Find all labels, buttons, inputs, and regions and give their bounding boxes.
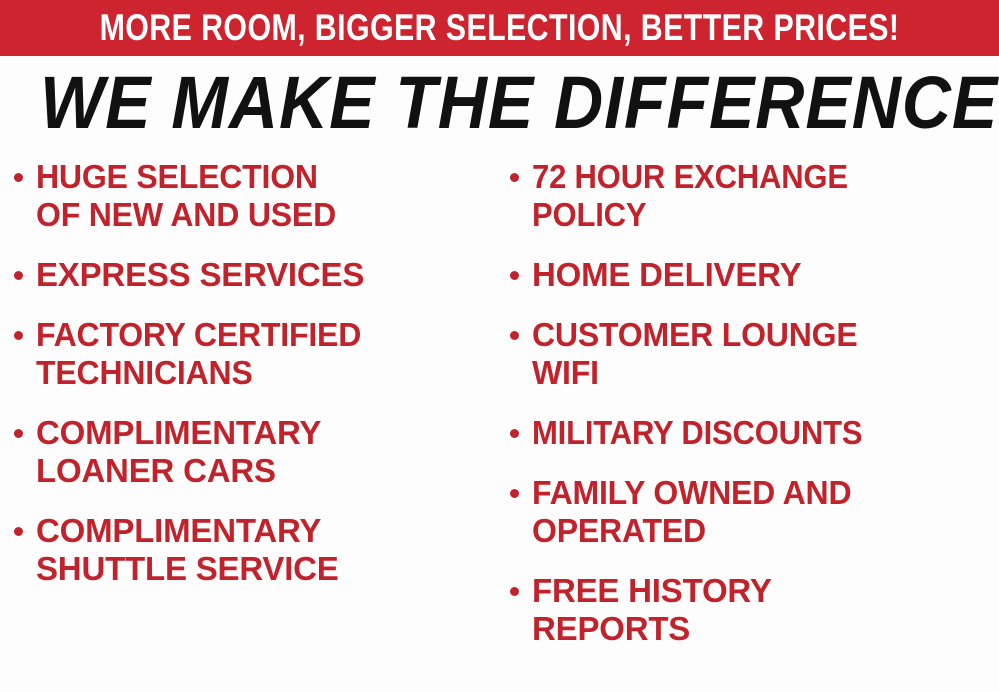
dealership-benefits-ad: MORE ROOM, BIGGER SELECTION, BETTER PRIC… <box>0 0 999 692</box>
bullet-dot-icon <box>14 331 23 340</box>
promo-banner-text: MORE ROOM, BIGGER SELECTION, BETTER PRIC… <box>90 0 909 56</box>
list-item: COMPLIMENTARY LOANER CARS <box>14 414 500 490</box>
list-item: CUSTOMER LOUNGE WIFI <box>510 316 999 392</box>
bullet-dot-icon <box>510 429 519 438</box>
bullet-dot-icon <box>14 429 23 438</box>
list-item-label: FREE HISTORY REPORTS <box>532 572 772 648</box>
list-item: FACTORY CERTIFIED TECHNICIANS <box>14 316 500 392</box>
list-item-label: MILITARY DISCOUNTS <box>532 414 862 452</box>
bullet-dot-icon <box>14 271 23 280</box>
bullet-dot-icon <box>510 173 519 182</box>
bullet-dot-icon <box>510 271 519 280</box>
list-item-label: HUGE SELECTION OF NEW AND USED <box>36 158 336 234</box>
list-item-label: FACTORY CERTIFIED TECHNICIANS <box>36 316 361 392</box>
list-item-label: 72 HOUR EXCHANGE POLICY <box>532 158 848 234</box>
list-item: FREE HISTORY REPORTS <box>510 572 999 648</box>
page-title: WE MAKE THE DIFFERENCE <box>40 64 959 142</box>
list-item: FAMILY OWNED AND OPERATED <box>510 474 999 550</box>
list-item-label: HOME DELIVERY <box>532 256 801 294</box>
benefits-column-left: HUGE SELECTION OF NEW AND USED EXPRESS S… <box>0 158 500 610</box>
promo-banner: MORE ROOM, BIGGER SELECTION, BETTER PRIC… <box>0 0 999 56</box>
bullet-dot-icon <box>510 587 519 596</box>
list-item-label: FAMILY OWNED AND OPERATED <box>532 474 851 550</box>
list-item: 72 HOUR EXCHANGE POLICY <box>510 158 999 234</box>
list-item: HUGE SELECTION OF NEW AND USED <box>14 158 500 234</box>
list-item: COMPLIMENTARY SHUTTLE SERVICE <box>14 512 500 588</box>
list-item: MILITARY DISCOUNTS <box>510 414 999 452</box>
bullet-dot-icon <box>14 173 23 182</box>
list-item-label: CUSTOMER LOUNGE WIFI <box>532 316 858 392</box>
list-item-label: COMPLIMENTARY SHUTTLE SERVICE <box>36 512 339 588</box>
list-item-label: COMPLIMENTARY LOANER CARS <box>36 414 321 490</box>
benefits-column-right: 72 HOUR EXCHANGE POLICY HOME DELIVERY CU… <box>500 158 999 670</box>
bullet-dot-icon <box>510 331 519 340</box>
list-item: HOME DELIVERY <box>510 256 999 294</box>
bullet-dot-icon <box>14 527 23 536</box>
benefits-columns: HUGE SELECTION OF NEW AND USED EXPRESS S… <box>0 158 999 692</box>
bullet-dot-icon <box>510 489 519 498</box>
list-item: EXPRESS SERVICES <box>14 256 500 294</box>
list-item-label: EXPRESS SERVICES <box>36 256 364 294</box>
